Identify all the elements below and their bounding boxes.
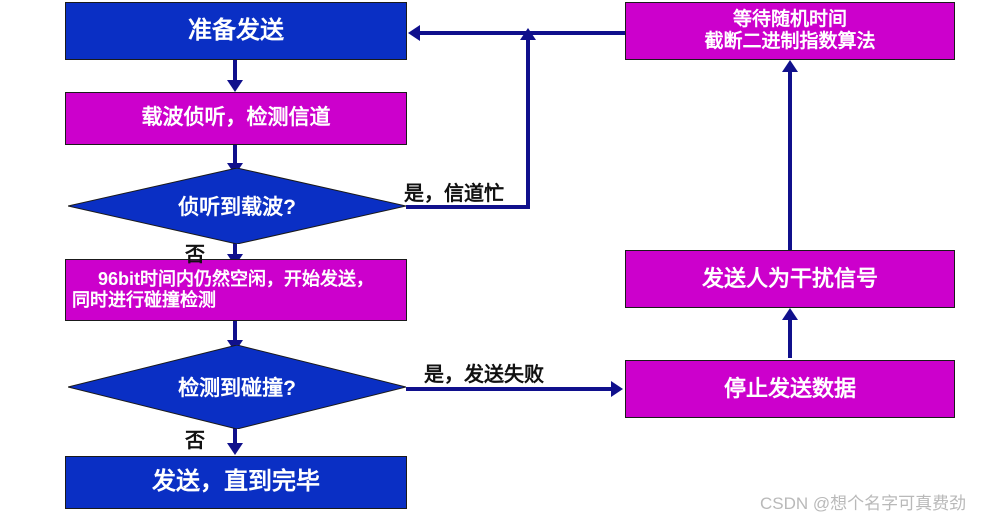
connector-stop-to-jam <box>788 320 792 358</box>
node-stop-sending[interactable]: 停止发送数据 <box>625 360 955 418</box>
node-idle-96bit-line2: 同时进行碰撞检测 <box>66 290 216 311</box>
arrowhead-stop-to-jam <box>782 308 798 320</box>
connector-carrier-sense-to-detect <box>233 145 237 165</box>
edge-label-yes-send-failed: 是，发送失败 <box>424 358 544 387</box>
flowchart-canvas: 准备发送 载波侦听，检测信道 侦听到载波? 96bit时间内仍然空闲，开始发送，… <box>0 0 1005 522</box>
arrowhead-collision-yes-to-stop <box>611 381 623 397</box>
node-idle-96bit-line1: 96bit时间内仍然空闲，开始发送， <box>98 269 374 290</box>
node-prepare-send-label: 准备发送 <box>188 17 284 45</box>
node-collision-detected[interactable]: 检测到碰撞? <box>68 345 406 429</box>
node-carrier-sense-label: 载波侦听，检测信道 <box>142 106 331 131</box>
node-wait-random-line1: 等待随机时间 <box>733 9 847 31</box>
node-send-until-done-label: 发送，直到完毕 <box>152 468 320 496</box>
arrowhead-prepare-to-carrier-sense <box>227 80 243 92</box>
csdn-watermark: CSDN @想个名字可真费劲 <box>760 489 966 514</box>
connector-prepare-to-carrier-sense <box>233 60 237 82</box>
connector-collision-yes-to-stop <box>406 387 613 391</box>
node-idle-96bit[interactable]: 96bit时间内仍然空闲，开始发送， 同时进行碰撞检测 <box>65 259 407 321</box>
node-wait-random-line2: 截断二进制指数算法 <box>704 31 875 53</box>
node-carrier-sense[interactable]: 载波侦听，检测信道 <box>65 92 407 145</box>
arrowhead-wait-random-to-prepare <box>408 25 420 41</box>
node-send-jam-label: 发送人为干扰信号 <box>702 266 878 292</box>
edge-label-no-carrier: 否 <box>185 238 205 267</box>
edge-label-no-collision: 否 <box>185 424 205 453</box>
connector-wait-random-to-prepare <box>420 31 625 35</box>
edge-label-yes-channel-busy: 是，信道忙 <box>404 177 504 206</box>
node-stop-sending-label: 停止发送数据 <box>724 376 856 402</box>
node-send-until-done[interactable]: 发送，直到完毕 <box>65 456 407 509</box>
node-send-jam[interactable]: 发送人为干扰信号 <box>625 250 955 308</box>
arrowhead-collision-no-to-send-done <box>227 443 243 455</box>
connector-jam-to-wait-random <box>788 72 792 250</box>
node-collision-detected-label: 检测到碰撞? <box>178 372 296 402</box>
node-wait-random[interactable]: 等待随机时间 截断二进制指数算法 <box>625 2 955 60</box>
node-carrier-detected-label: 侦听到载波? <box>178 191 296 221</box>
node-carrier-detected[interactable]: 侦听到载波? <box>68 168 406 244</box>
arrowhead-jam-to-wait-random <box>782 60 798 72</box>
connector-detect-yes-vertical-up <box>526 40 530 209</box>
node-prepare-send[interactable]: 准备发送 <box>65 2 407 60</box>
